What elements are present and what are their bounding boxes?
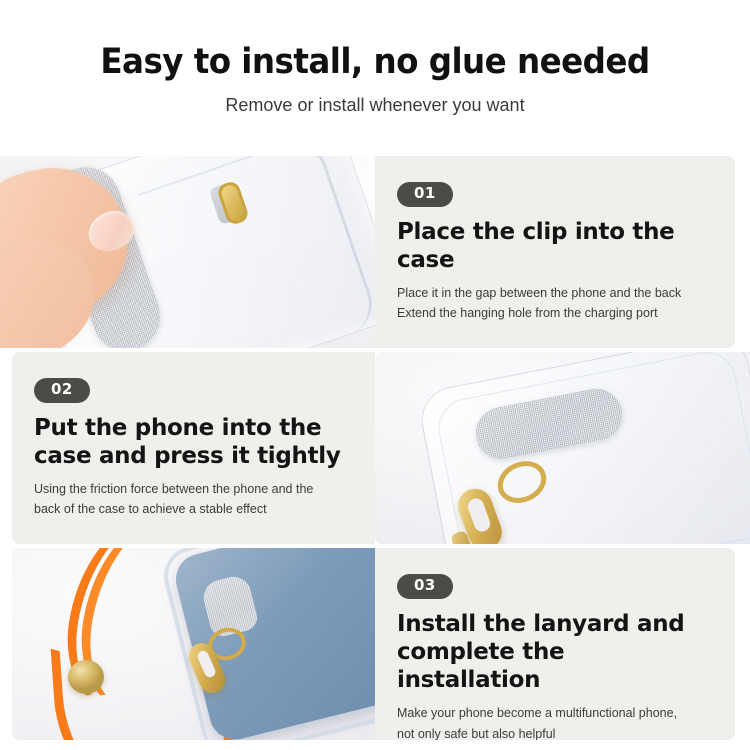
photo-hand-pressing-clip	[0, 156, 375, 348]
step-3-description-line-1: Make your phone become a multifunctional…	[397, 703, 713, 724]
step-2-description: Using the friction force between the pho…	[34, 479, 353, 520]
step-3-text: 03 Install the lanyard and complete the …	[375, 548, 735, 740]
step-1-text: 01 Place the clip into the case Place it…	[375, 156, 735, 348]
photo-case-with-carabiner	[375, 352, 750, 544]
page-title: Easy to install, no glue needed	[26, 44, 724, 81]
step-3-description: Make your phone become a multifunctional…	[397, 703, 713, 740]
gold-cord-bead-slider	[68, 660, 104, 694]
step-1-description-line-1: Place it in the gap between the phone an…	[397, 283, 713, 304]
step-3-photo	[12, 548, 375, 740]
step-row-3: 03 Install the lanyard and complete the …	[0, 548, 750, 740]
step-1-photo	[0, 156, 375, 348]
step-row-2: 02 Put the phone into the case and press…	[0, 352, 750, 544]
step-3-title: Install the lanyard and complete the ins…	[397, 610, 713, 694]
page-subtitle: Remove or install whenever you want	[0, 95, 750, 117]
photo-lanyard-attached-to-phone	[12, 548, 375, 740]
step-2-description-line-2: back of the case to achieve a stable eff…	[34, 499, 353, 520]
step-2-description-line-1: Using the friction force between the pho…	[34, 479, 353, 500]
steps-list: 01 Place the clip into the case Place it…	[0, 156, 750, 740]
step-1-description: Place it in the gap between the phone an…	[397, 283, 713, 324]
step-1-description-line-2: Extend the hanging hole from the chargin…	[397, 303, 713, 324]
step-3-description-line-2: not only safe but also helpful	[397, 724, 713, 740]
step-2-badge: 02	[34, 378, 90, 403]
step-row-1: 01 Place the clip into the case Place it…	[0, 156, 750, 348]
step-2-text: 02 Put the phone into the case and press…	[12, 352, 375, 544]
step-2-photo	[375, 352, 750, 544]
step-1-badge: 01	[397, 182, 453, 207]
header: Easy to install, no glue needed Remove o…	[0, 0, 750, 116]
step-3-badge: 03	[397, 574, 453, 599]
step-2-title: Put the phone into the case and press it…	[34, 414, 353, 470]
step-1-title: Place the clip into the case	[397, 218, 713, 274]
product-instruction-infographic: Easy to install, no glue needed Remove o…	[0, 0, 750, 750]
